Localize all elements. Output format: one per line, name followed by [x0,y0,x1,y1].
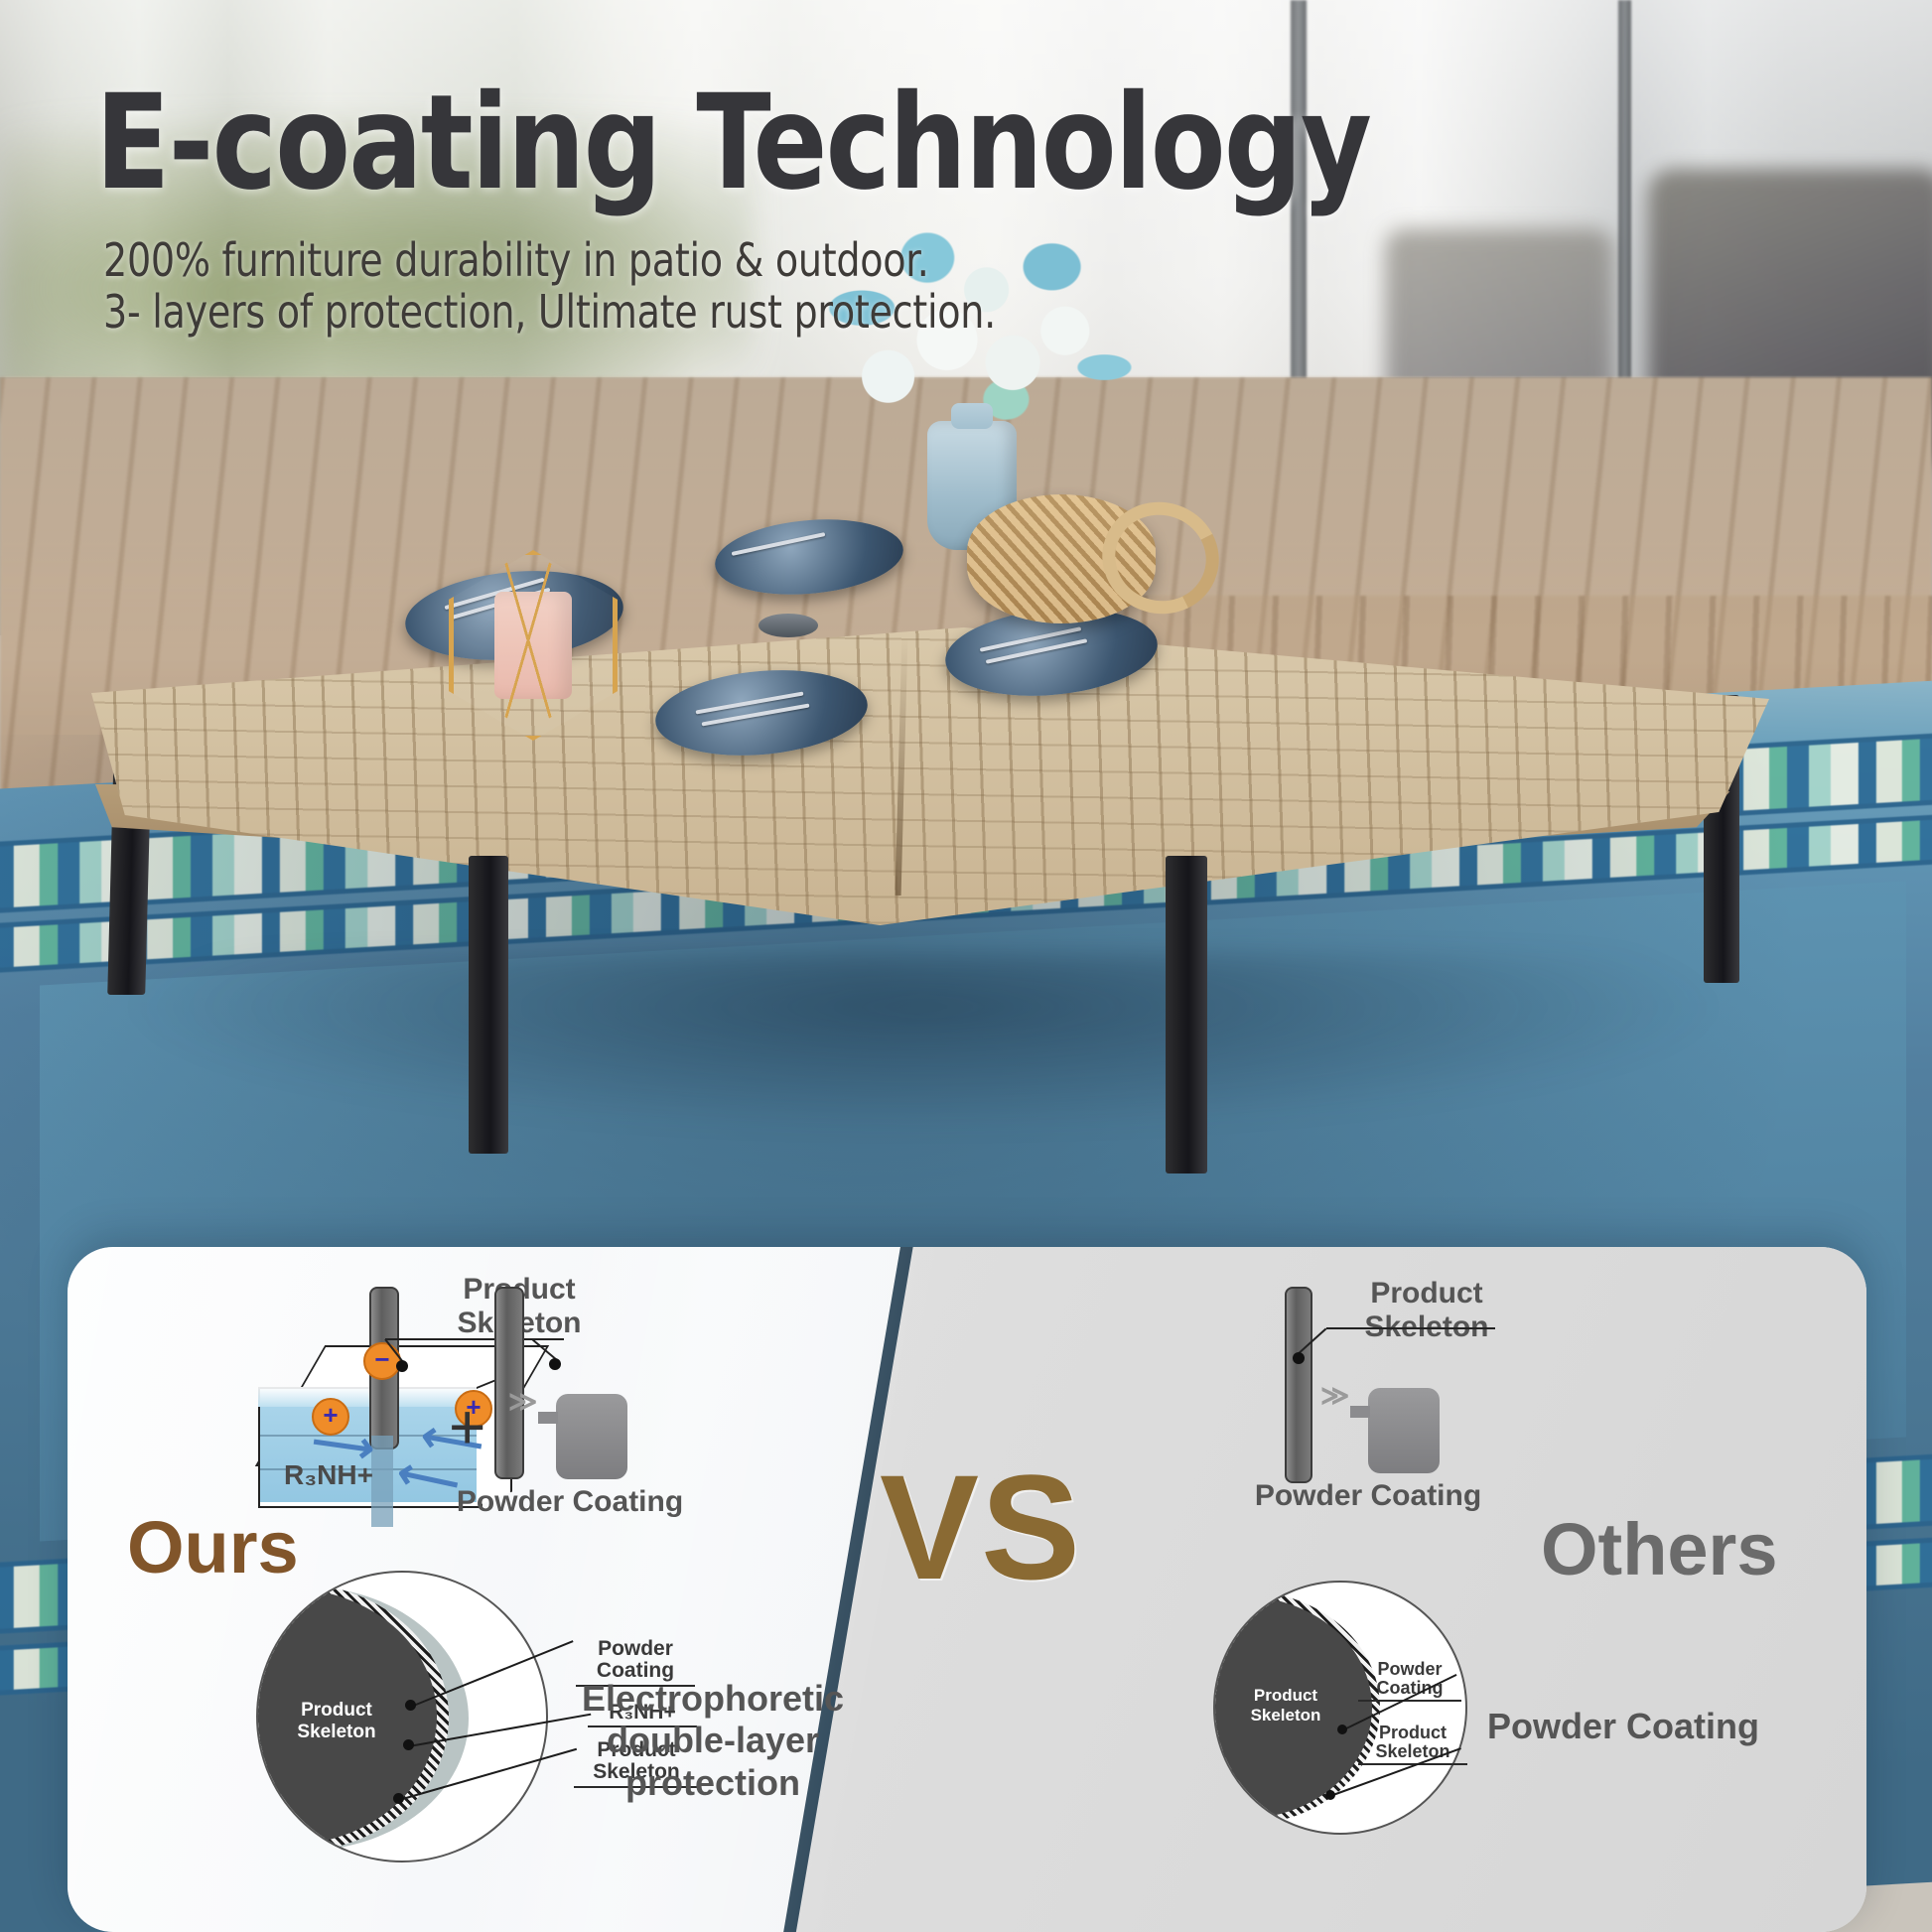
ours-caption: Electrophoretic double-layer protection [544,1678,882,1804]
ours-leader-dot-1 [405,1700,416,1711]
plus-symbol: + [449,1390,485,1463]
spray-nozzle [538,1412,558,1424]
others-wire-contact-dot [1293,1352,1305,1364]
others-powder-coating-label: Powder Coating [1229,1479,1507,1513]
ours-leader-dot-2 [403,1739,414,1750]
subtitle-line-1: 200% furniture durability in patio & out… [103,232,929,288]
tank-liquid-surface [258,1387,479,1407]
others-spray-nozzle [1350,1406,1370,1418]
vs-label: VS [880,1442,1082,1613]
others-leader-dot-1 [1337,1725,1347,1734]
product-skeleton-rod-coated [494,1287,524,1479]
solution-formula-label: R₃NH+ [284,1459,423,1490]
others-skeleton-label: Product Skeleton [1322,1277,1531,1343]
page-title: E-coating Technology [95,77,1370,208]
others-leader-wire-horizontal [1326,1327,1495,1329]
ours-cross-section: Product Skeleton [256,1571,548,1863]
infographic-root: E-coating Technology 200% furniture dura… [0,0,1932,1932]
others-leader-dot-2 [1325,1790,1335,1800]
wire-contact-dot [396,1360,408,1372]
plate [714,513,904,601]
wire-contact-dot [549,1358,561,1370]
others-callout-product-skeleton: Product Skeleton [1358,1724,1467,1765]
others-caption: Powder Coating [1487,1706,1759,1747]
ours-caption-line-1: Electrophoretic [544,1678,882,1720]
others-product-skeleton-rod [1285,1287,1312,1483]
powder-spray-gun [556,1394,627,1479]
table-slats-cross [91,627,1769,925]
ours-caption-line-2: double-layer protection [544,1720,882,1804]
ours-powder-coating-label: Powder Coating [431,1485,709,1519]
others-side-label: Others [1541,1507,1778,1591]
subtitle-line-2: 3- layers of protection, Ultimate rust p… [103,284,996,340]
others-powder-spray-gun [1368,1388,1440,1473]
others-core-label: Product Skeleton [1225,1686,1346,1725]
others-cross-section: Product Skeleton [1213,1581,1467,1835]
ours-side-label: Ours [127,1505,299,1589]
negative-ion-marker: − [363,1342,401,1380]
ours-leader-dot-3 [393,1793,404,1804]
table-leg-front-right [1166,856,1207,1173]
others-spray-particles-icon: ≫ [1320,1382,1349,1410]
ours-core-label: Product Skeleton [272,1700,401,1743]
electrode-wire [385,1338,564,1340]
spray-particles-icon: ≫ [508,1388,537,1416]
table-shadow [119,953,1727,1132]
table-leg-front-left [469,856,508,1154]
umbrella-hole-cap [759,614,818,637]
